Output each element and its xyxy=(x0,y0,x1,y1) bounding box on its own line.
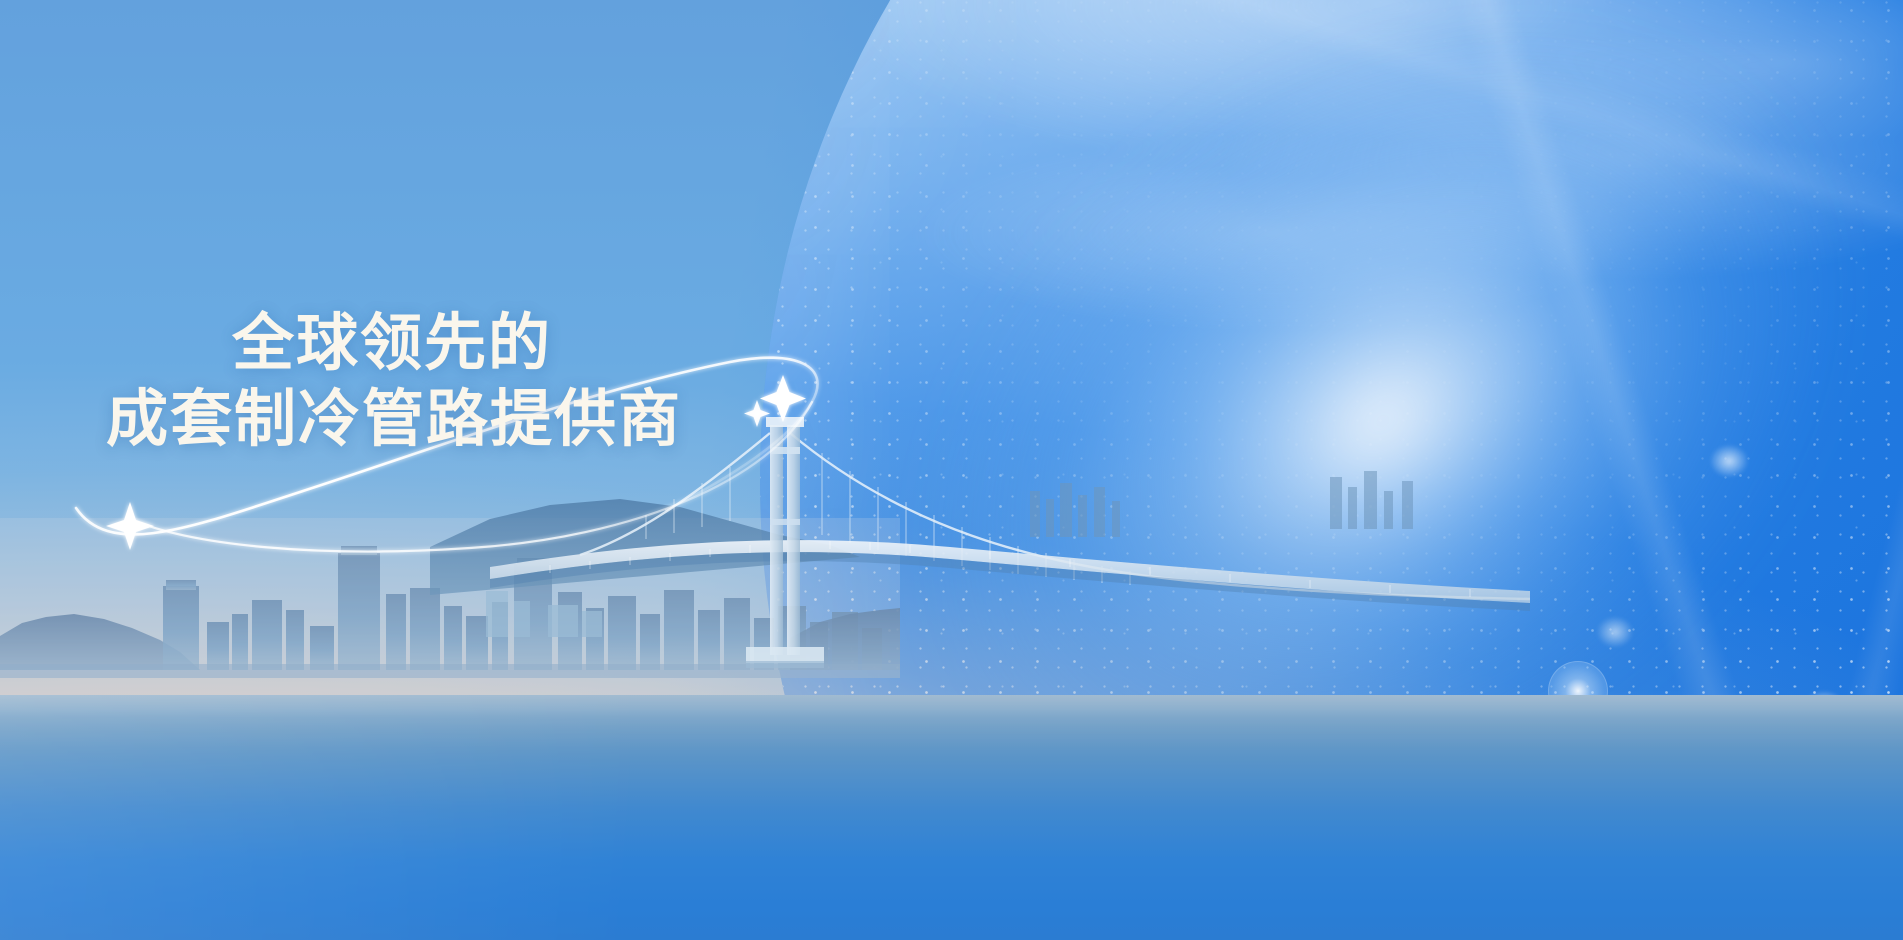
page-title: 全球领先的 成套制冷管路提供商 xyxy=(106,306,826,458)
hero-banner: 全球领先的 成套制冷管路提供商 xyxy=(0,0,1903,940)
sea-sheen xyxy=(0,695,1903,940)
sparkle-star-icon-left xyxy=(106,502,154,550)
headline-line-1: 全球领先的 xyxy=(232,306,826,382)
headline-line-2: 成套制冷管路提供商 xyxy=(106,382,826,458)
